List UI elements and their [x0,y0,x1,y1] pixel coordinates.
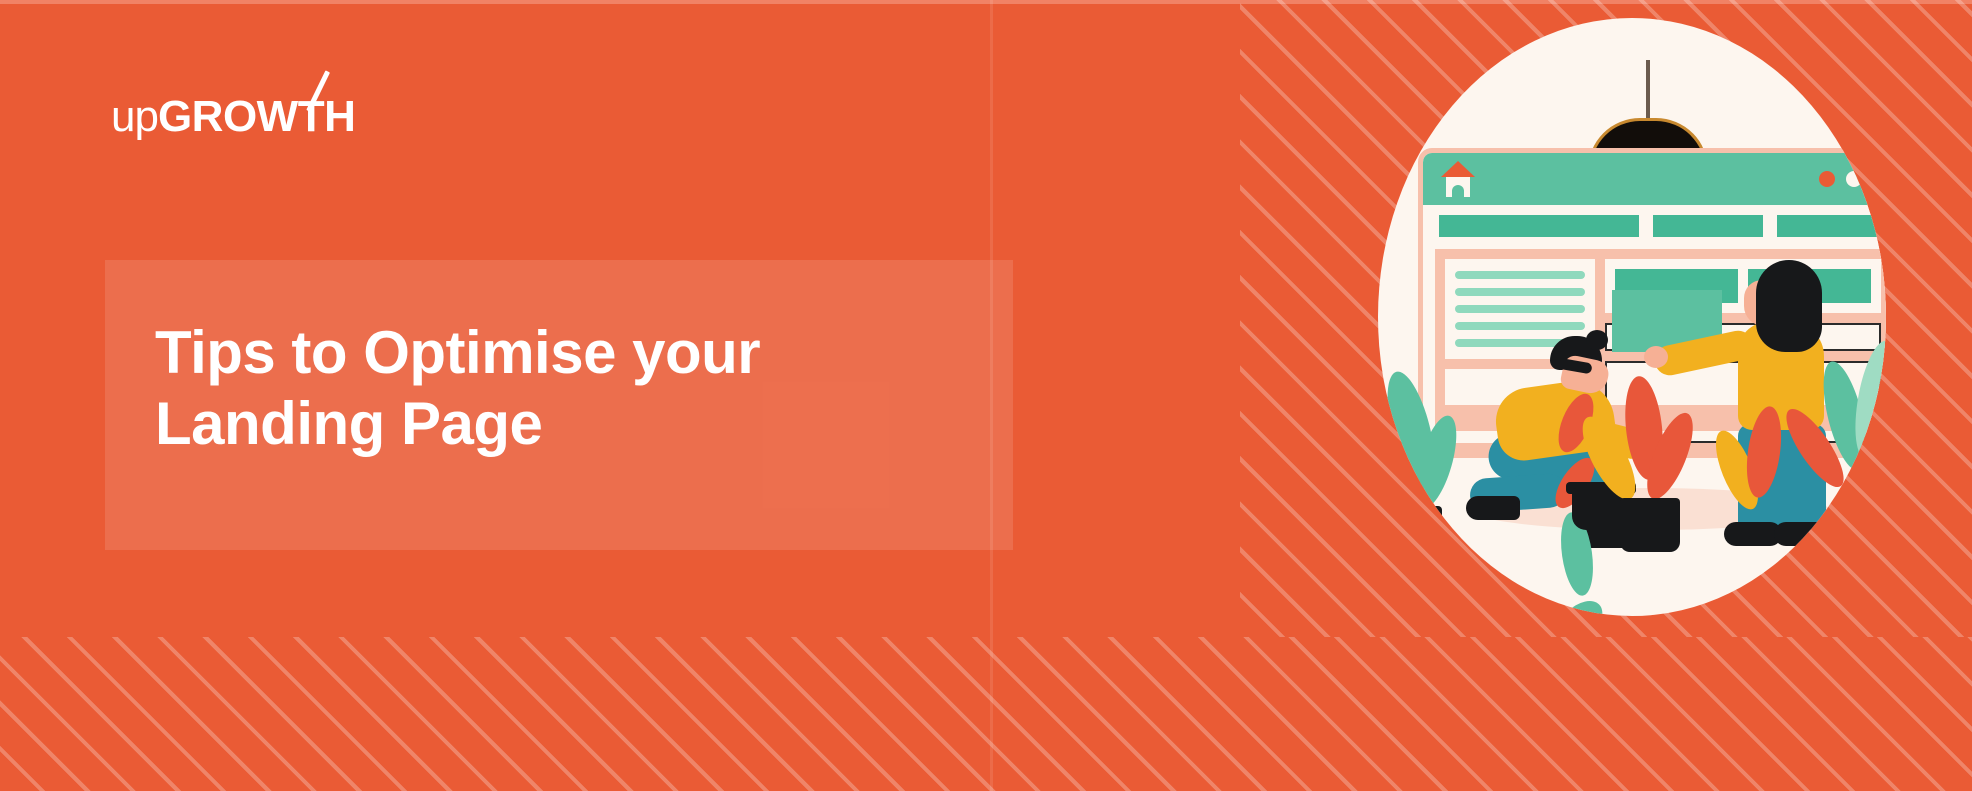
foreground-plant-center [1578,376,1728,566]
text-line [1455,305,1585,313]
headline-line-1: Tips to Optimise your [155,319,760,386]
house-roof [1441,161,1475,177]
headline-line-2: Landing Page [155,389,915,460]
plant-pot [1386,506,1442,548]
window-control-dots [1819,171,1886,187]
woman-hand [1644,346,1668,368]
page-title: Tips to Optimise your Landing Page [155,318,915,460]
mockup-nav-row [1439,215,1886,237]
house-icon [1441,161,1475,197]
text-line [1455,322,1585,330]
minimize-dot-icon [1846,171,1862,187]
foreground-plant-right [1788,340,1886,560]
illustration-circle [1378,18,1886,616]
maximize-dot-icon [1873,171,1886,187]
nav-pill [1653,215,1763,237]
browser-title-bar [1423,153,1886,205]
plant-leaf [1742,404,1786,500]
upgrowth-logo[interactable]: up GROWTH [111,95,355,139]
nav-pill [1777,215,1886,237]
man-hair-bun [1586,330,1608,350]
close-dot-icon [1819,171,1835,187]
plant-pot [1620,498,1680,552]
nav-pill [1439,215,1639,237]
logo-text-growth: GROWTH [158,95,355,139]
house-door [1452,185,1464,197]
text-line [1455,271,1585,279]
bottom-diagonal-hatch-band [0,637,1972,791]
text-line [1455,288,1585,296]
promo-banner: up GROWTH Tips to Optimise your Landing … [0,0,1972,791]
logo-growth-wrap: GROWTH [158,95,355,139]
woman-hair [1756,260,1822,352]
logo-text-up: up [111,95,158,139]
lamp-cord [1646,60,1650,122]
foreground-plant-left [1378,370,1498,550]
